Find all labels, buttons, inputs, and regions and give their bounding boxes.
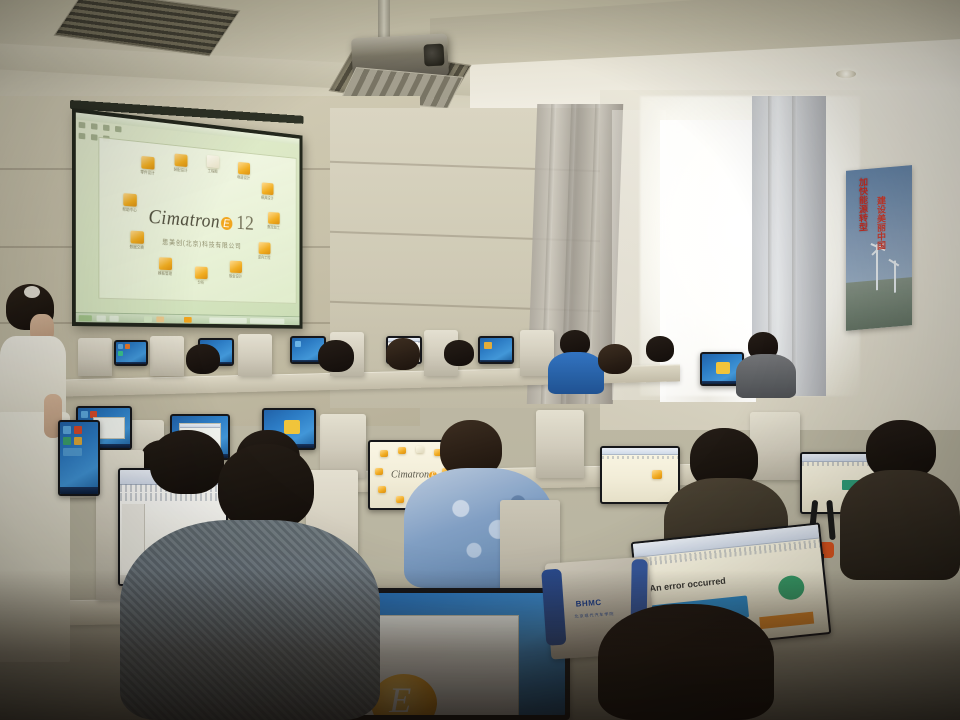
module-label: 分析 (198, 280, 205, 286)
student-body (736, 354, 796, 398)
cubicle-divider (238, 334, 272, 376)
student-head (318, 340, 354, 372)
projected-taskbar (76, 312, 300, 325)
module-label: 数控加工 (267, 224, 279, 230)
cimatron-version: 12 (236, 210, 254, 234)
monitor[interactable] (600, 446, 680, 504)
monitor[interactable] (114, 340, 148, 366)
student-head (150, 430, 224, 494)
cimatron-wordmark: Cimatron (149, 205, 220, 233)
projected-desktop: 零件设计 装配设计 工程图 电极设计 模具设计 数控加工 逆向工程 钣金设计 分… (76, 112, 300, 325)
module-label: 装配设计 (174, 167, 188, 174)
cubicle-divider (536, 410, 584, 478)
cubicle-divider (150, 336, 184, 376)
cimatron-logo: CimatronE12 (149, 204, 254, 236)
wind-energy-poster: 加快能源转型 建设美丽中国 (846, 165, 912, 331)
poster-text-column-1: 加快能源转型 (852, 177, 868, 232)
module-label: 模板管理 (158, 271, 172, 277)
cubicle-divider (320, 414, 366, 478)
monitor[interactable] (58, 420, 100, 496)
ceiling-downlight (836, 70, 856, 78)
cimatron-e-badge: E (221, 217, 232, 231)
cubicle-divider (78, 338, 112, 376)
module-label: 逆向工程 (258, 255, 271, 261)
classroom-photo: 加快能源转型 建设美丽中国 零件设计 装配设计 (0, 0, 960, 720)
student-body (548, 352, 604, 394)
student-head (218, 444, 314, 530)
foreground-shadow (0, 570, 960, 720)
student-head (386, 338, 420, 370)
student-head (598, 344, 632, 374)
poster-text-column-2: 建设美丽中国 (870, 195, 886, 250)
module-label: 数据交换 (130, 244, 144, 251)
module-label: 电极设计 (237, 175, 250, 182)
module-label: 钣金设计 (229, 273, 242, 279)
monitor[interactable] (478, 336, 514, 364)
hair-scrunchie (24, 286, 40, 298)
module-label: 工程图 (208, 168, 218, 175)
module-label: 模具设计 (261, 195, 273, 201)
cimatron-company-subtitle: 思美创(北京)科技有限公司 (162, 237, 241, 251)
student-body (840, 470, 960, 580)
student-head (646, 336, 674, 362)
cubicle-divider (750, 412, 800, 480)
student-head (186, 344, 220, 374)
projection-screen[interactable]: 零件设计 装配设计 工程图 电极设计 模具设计 数控加工 逆向工程 钣金设计 分… (72, 108, 303, 329)
cimatron-splash-window: 零件设计 装配设计 工程图 电极设计 模具设计 数控加工 逆向工程 钣金设计 分… (98, 137, 296, 304)
projector-lens (423, 43, 444, 66)
module-label: 零件设计 (140, 169, 154, 176)
module-label: 帮助中心 (122, 207, 136, 214)
student-head (444, 340, 474, 366)
